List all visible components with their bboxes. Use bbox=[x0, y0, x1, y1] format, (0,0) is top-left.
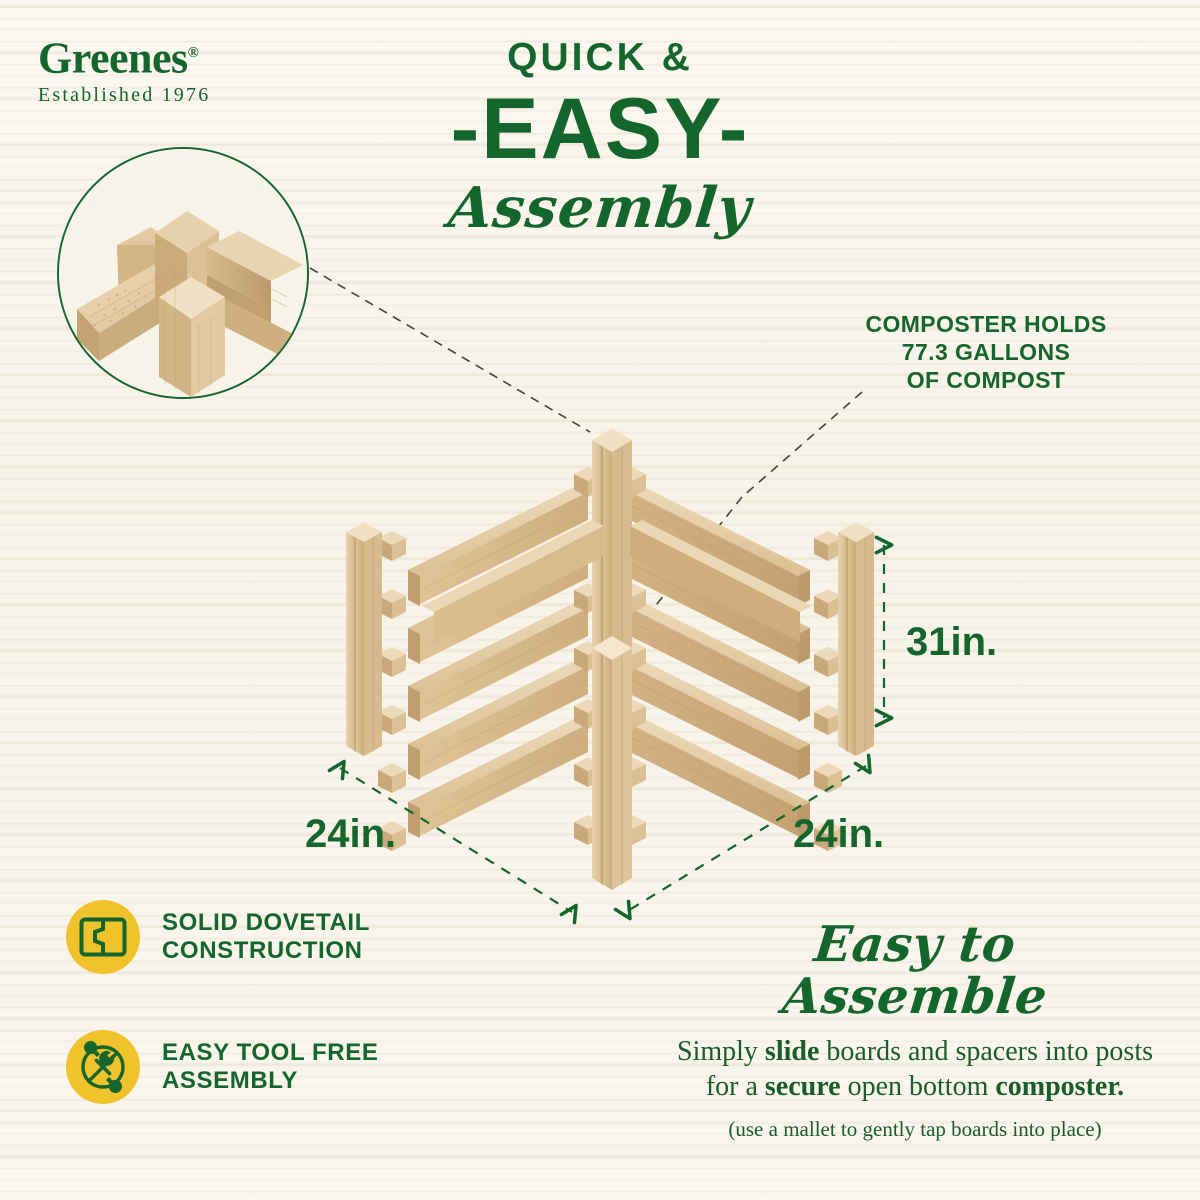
feature-dovetail-construction: SOLID DOVETAIL CONSTRUCTION bbox=[66, 900, 496, 974]
dimension-label-height: 31in. bbox=[906, 620, 997, 665]
dimension-label-width-right: 24in. bbox=[793, 812, 884, 857]
no-tools-wrench-icon bbox=[66, 1030, 140, 1104]
feature-tool-free-line-2: ASSEMBLY bbox=[162, 1067, 378, 1095]
feature-tool-free-label: EASY TOOL FREE ASSEMBLY bbox=[162, 1039, 378, 1095]
assemble-bold-composter: composter. bbox=[995, 1071, 1124, 1102]
feature-dovetail-label: SOLID DOVETAIL CONSTRUCTION bbox=[162, 909, 370, 965]
dovetail-joint-glyph bbox=[79, 917, 127, 957]
assemble-script-line-2: Assemble bbox=[657, 970, 1172, 1022]
assemble-mallet-note: (use a mallet to gently tap boards into … bbox=[660, 1116, 1170, 1142]
feature-dovetail-line-1: SOLID DOVETAIL bbox=[162, 909, 370, 937]
no-tools-wrench-glyph bbox=[79, 1043, 127, 1091]
dovetail-joint-icon bbox=[66, 900, 140, 974]
assemble-script-line-1: Easy to bbox=[657, 918, 1172, 970]
assemble-body-text: Simply slide boards and spacers into pos… bbox=[660, 1034, 1170, 1104]
assemble-bold-slide: slide bbox=[765, 1036, 819, 1067]
easy-to-assemble-block: Easy to Assemble Simply slide boards and… bbox=[660, 918, 1170, 1142]
assemble-body-mid-2: open bottom bbox=[841, 1071, 996, 1102]
feature-tool-free-assembly: EASY TOOL FREE ASSEMBLY bbox=[66, 1030, 496, 1104]
assemble-body-pre: Simply bbox=[677, 1036, 765, 1067]
dimension-label-width-left: 24in. bbox=[305, 812, 396, 857]
feature-dovetail-line-2: CONSTRUCTION bbox=[162, 937, 370, 965]
feature-tool-free-line-1: EASY TOOL FREE bbox=[162, 1039, 378, 1067]
assemble-bold-secure: secure bbox=[765, 1071, 841, 1102]
